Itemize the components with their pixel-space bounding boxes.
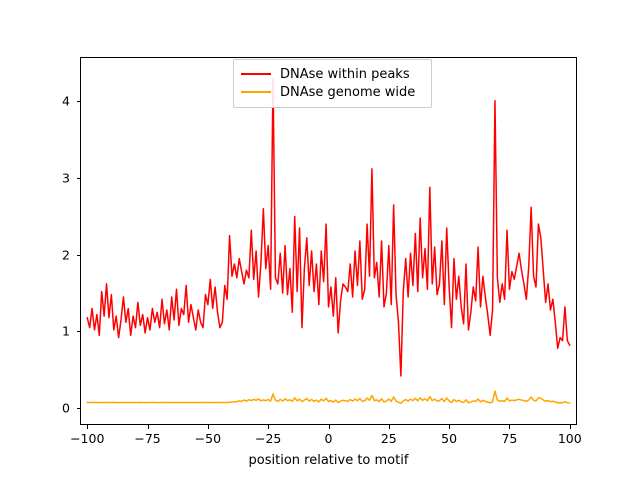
x-tick-label: −25	[255, 431, 281, 446]
x-tick-label: −75	[134, 431, 160, 446]
x-axis-label: position relative to motif	[80, 453, 577, 468]
legend-swatch-orange	[241, 91, 271, 93]
legend: DNAse within peaks DNAse genome wide	[233, 59, 432, 108]
x-tick-label: 75	[501, 431, 517, 446]
legend-entry-dnase-within-peaks: DNAse within peaks	[241, 65, 424, 83]
x-tick-label: −50	[195, 431, 221, 446]
x-tick-mark	[87, 425, 88, 429]
y-tick-label: 4	[70, 94, 78, 109]
legend-swatch-red	[241, 73, 271, 75]
x-tick-mark	[449, 425, 450, 429]
y-tick-label: 1	[70, 324, 78, 339]
x-tick-mark	[509, 425, 510, 429]
legend-label-dnase-genome-wide: DNAse genome wide	[280, 85, 415, 100]
plot-lines	[80, 57, 577, 425]
x-tick-mark	[329, 425, 330, 429]
y-tick-label: 3	[70, 171, 78, 186]
line-dnase-genome-wide	[87, 78, 570, 375]
x-tick-mark	[208, 425, 209, 429]
line-dnase-within-peaks	[87, 391, 570, 403]
matplotlib-figure: −100−75−50−250255075100 01234 position r…	[0, 0, 640, 480]
legend-entry-dnase-genome-wide: DNAse genome wide	[241, 83, 424, 101]
x-tick-label: −100	[70, 431, 104, 446]
x-tick-label: 25	[381, 431, 397, 446]
x-tick-label: 0	[325, 431, 333, 446]
y-tick-label: 0	[70, 401, 78, 416]
x-tick-label: 50	[441, 431, 457, 446]
x-tick-mark	[389, 425, 390, 429]
y-tick-label: 2	[70, 247, 78, 262]
x-tick-mark	[268, 425, 269, 429]
x-tick-mark	[148, 425, 149, 429]
x-tick-label: 100	[558, 431, 582, 446]
legend-label-dnase-within-peaks: DNAse within peaks	[280, 67, 410, 82]
x-tick-mark	[570, 425, 571, 429]
